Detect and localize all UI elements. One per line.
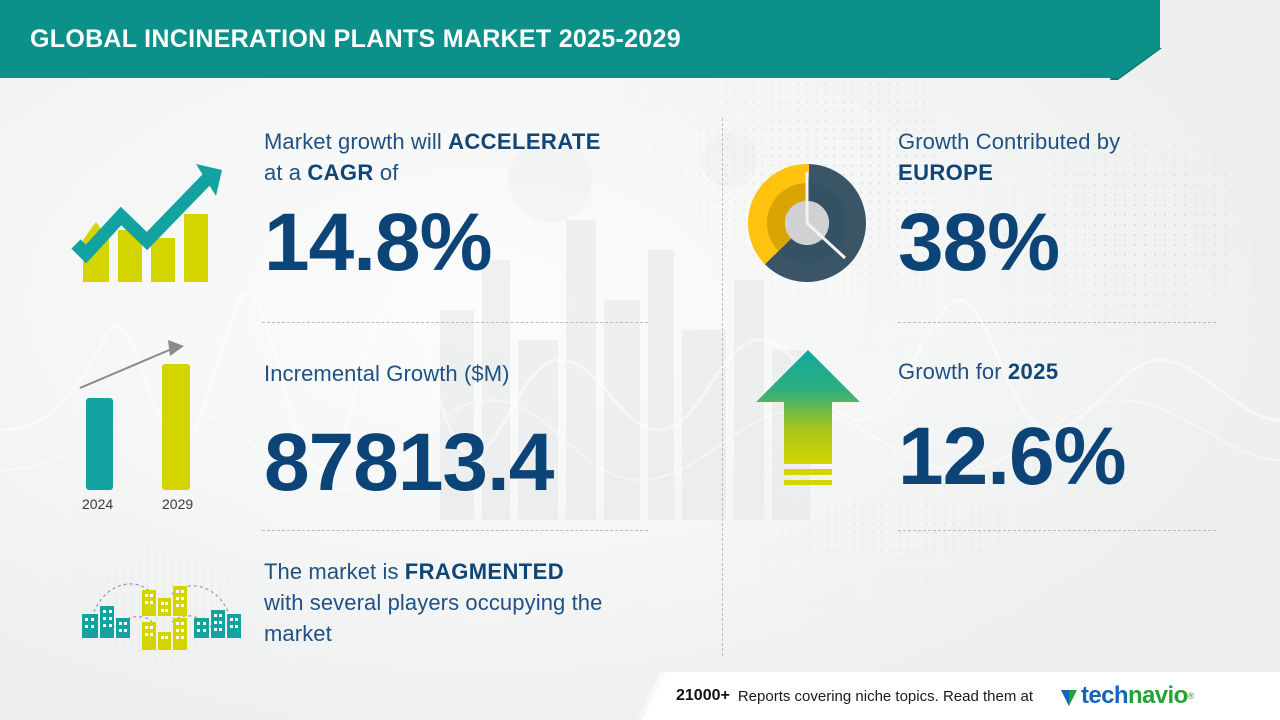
- logo-text-tech: tech: [1081, 682, 1128, 710]
- year-growth-line1-strong: 2025: [1008, 359, 1059, 384]
- arrow-up-icon: [752, 346, 864, 496]
- right-divider-1: [898, 322, 1216, 323]
- donut-chart-icon: [742, 158, 872, 288]
- fragmentation-line1-pre: The market is: [264, 559, 405, 584]
- growth-chart-icon: [70, 148, 230, 288]
- year-growth-description: Growth for 2025: [898, 356, 1228, 387]
- technavio-logo[interactable]: technavio®: [1059, 682, 1194, 710]
- footer-report-count: 21000+: [676, 687, 730, 705]
- cagr-line2-pre: at a: [264, 160, 307, 185]
- year-growth-value: 12.6%: [898, 414, 1126, 500]
- cagr-line2-strong: CAGR: [307, 160, 373, 185]
- logo-trademark: ®: [1188, 691, 1195, 701]
- cagr-description: Market growth will ACCELERATE at a CAGR …: [264, 126, 664, 188]
- city-network-icon: [76, 566, 246, 656]
- region-contribution-value: 38%: [898, 200, 1059, 286]
- bar-label-2024: 2024: [82, 496, 113, 512]
- cagr-value: 14.8%: [264, 200, 492, 286]
- fragmentation-line1-strong: FRAGMENTED: [405, 559, 564, 584]
- cagr-line2-post: of: [374, 160, 399, 185]
- left-divider-1: [262, 322, 648, 323]
- region-line1: Growth Contributed by: [898, 129, 1120, 154]
- column-divider: [722, 118, 723, 656]
- footer-tagline: Reports covering niche topics. Read them…: [738, 688, 1033, 705]
- technavio-arrow-icon: [1059, 684, 1079, 708]
- bar-label-2029: 2029: [162, 496, 193, 512]
- region-contribution-description: Growth Contributed by EUROPE: [898, 126, 1228, 188]
- infographic-page: GLOBAL INCINERATION PLANTS MARKET 2025-2…: [0, 0, 1280, 720]
- incremental-growth-label: Incremental Growth ($M): [264, 358, 664, 389]
- left-divider-2: [262, 530, 648, 531]
- cagr-line1-strong: ACCELERATE: [448, 129, 601, 154]
- right-divider-2: [898, 530, 1216, 531]
- fragmentation-line2: with several players occupying the: [264, 590, 602, 615]
- cagr-line1-pre: Market growth will: [264, 129, 448, 154]
- year-growth-line1-pre: Growth for: [898, 359, 1008, 384]
- fragmentation-description: The market is FRAGMENTED with several pl…: [264, 556, 684, 649]
- bar-comparison-icon: [72, 336, 232, 496]
- region-line2-strong: EUROPE: [898, 160, 993, 185]
- fragmentation-line3: market: [264, 621, 332, 646]
- page-title: GLOBAL INCINERATION PLANTS MARKET 2025-2…: [30, 0, 681, 78]
- footer: 21000+ Reports covering niche topics. Re…: [676, 672, 1280, 720]
- logo-text-navio: navio: [1128, 682, 1188, 710]
- incremental-growth-value: 87813.4: [264, 420, 553, 506]
